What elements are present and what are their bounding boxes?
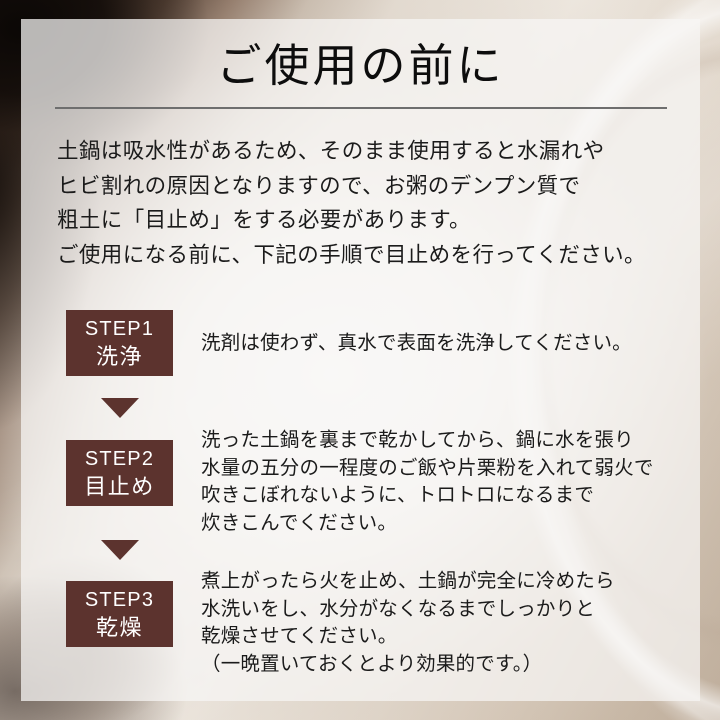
step-description-line: 水洗いをし、水分がなくなるまでしっかりと	[201, 596, 693, 624]
step-description-line: 洗った土鍋を裏まで乾かしてから、鍋に水を張り	[201, 427, 693, 455]
step-badge-2-title: 目止め	[66, 472, 173, 501]
step-badge-2-number: STEP2	[66, 446, 173, 472]
step-description-line: 乾燥させてください。	[201, 623, 693, 651]
step-description-line: 炊きこんでください。	[201, 510, 693, 538]
step-description-line: 水量の五分の一程度のご飯や片栗粉を入れて弱火で	[201, 455, 693, 483]
step-description-line: 洗剤は使わず、真水で表面を洗浄してください。	[201, 330, 693, 358]
step-badge-2: STEP2 目止め	[66, 440, 173, 506]
step-description-3: 煮上がったら火を止め、土鍋が完全に冷めたら 水洗いをし、水分がなくなるまでしっか…	[201, 568, 693, 678]
step-badge-3: STEP3 乾燥	[66, 581, 173, 647]
step-badge-1-number: STEP1	[66, 316, 173, 342]
step-badge-3-number: STEP3	[66, 587, 173, 613]
step-badge-3-title: 乾燥	[66, 613, 173, 642]
intro-paragraph: 土鍋は吸水性があるため、そのまま使用すると水漏れや ヒビ割れの原因となりますので…	[57, 134, 682, 272]
arrow-down-icon	[101, 398, 139, 418]
step-badge-1-title: 洗浄	[66, 342, 173, 371]
intro-line: 粗土に「目止め」をする必要があります。	[57, 203, 682, 238]
step-description-line: 吹きこぼれないように、トロトロになるまで	[201, 482, 693, 510]
content-panel: ご使用の前に 土鍋は吸水性があるため、そのまま使用すると水漏れや ヒビ割れの原因…	[21, 19, 700, 701]
step-description-line: （一晩置いておくとより効果的です。）	[201, 651, 693, 679]
title-divider	[55, 107, 667, 109]
page-title: ご使用の前に	[21, 42, 700, 92]
step-description-1: 洗剤は使わず、真水で表面を洗浄してください。	[201, 330, 693, 358]
intro-line: ご使用になる前に、下記の手順で目止めを行ってください。	[57, 238, 682, 273]
step-badge-1: STEP1 洗浄	[66, 310, 173, 376]
intro-line: 土鍋は吸水性があるため、そのまま使用すると水漏れや	[57, 134, 682, 169]
arrow-down-icon	[101, 540, 139, 560]
intro-line: ヒビ割れの原因となりますので、お粥のデンプン質で	[57, 169, 682, 204]
instruction-graphic: ご使用の前に 土鍋は吸水性があるため、そのまま使用すると水漏れや ヒビ割れの原因…	[0, 0, 720, 720]
step-description-line: 煮上がったら火を止め、土鍋が完全に冷めたら	[201, 568, 693, 596]
step-description-2: 洗った土鍋を裏まで乾かしてから、鍋に水を張り 水量の五分の一程度のご飯や片栗粉を…	[201, 427, 693, 537]
